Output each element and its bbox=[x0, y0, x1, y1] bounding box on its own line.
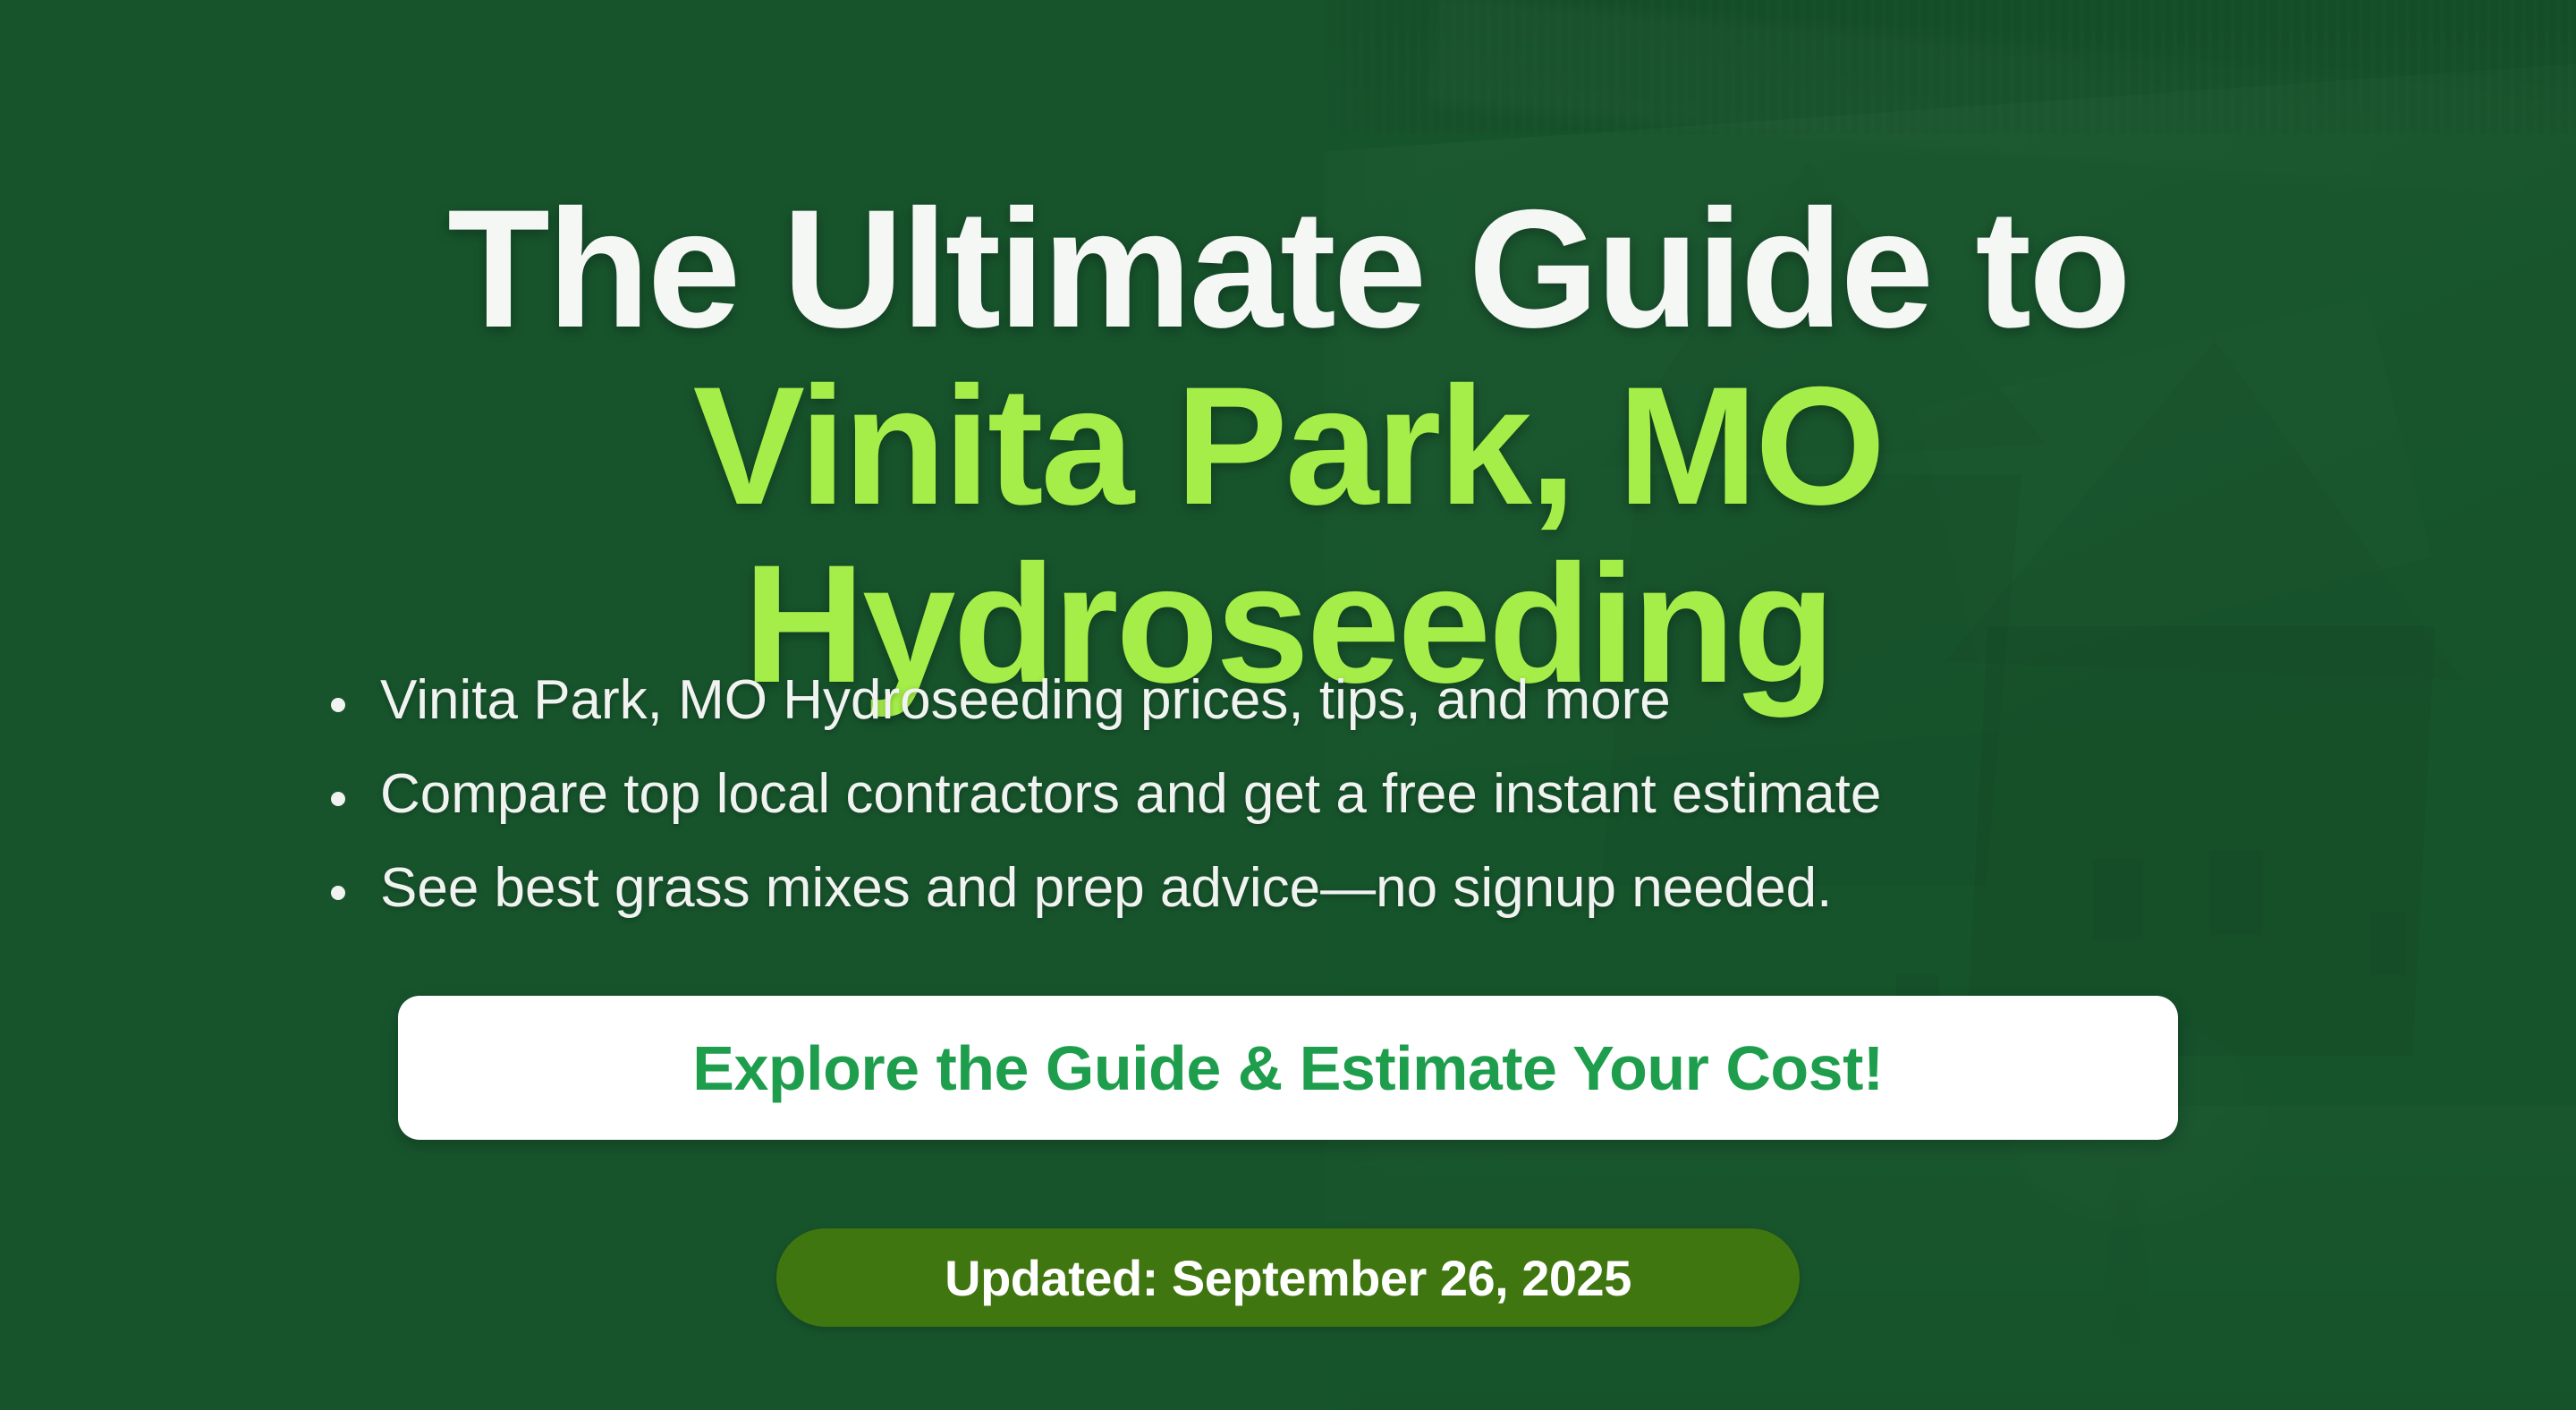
hero-banner: The Ultimate Guide to Vinita Park, MO Hy… bbox=[0, 0, 2576, 1410]
headline-line-2: Vinita Park, MO bbox=[0, 357, 2576, 534]
updated-date-badge: Updated: September 26, 2025 bbox=[776, 1228, 1800, 1327]
list-item-label: Compare top local contractors and get a … bbox=[380, 763, 1881, 825]
explore-guide-button[interactable]: Explore the Guide & Estimate Your Cost! bbox=[398, 996, 2178, 1140]
bullet-dot-icon bbox=[331, 792, 345, 806]
list-item: See best grass mixes and prep advice—no … bbox=[331, 861, 1881, 916]
banner-content: The Ultimate Guide to Vinita Park, MO Hy… bbox=[0, 0, 2576, 1410]
list-item: Vinita Park, MO Hydroseeding prices, tip… bbox=[331, 673, 1881, 728]
benefit-list: Vinita Park, MO Hydroseeding prices, tip… bbox=[331, 673, 1881, 955]
headline-line-1: The Ultimate Guide to bbox=[447, 174, 2129, 362]
page-title: The Ultimate Guide to Vinita Park, MO Hy… bbox=[0, 180, 2576, 712]
list-item: Compare top local contractors and get a … bbox=[331, 767, 1881, 822]
bullet-dot-icon bbox=[331, 698, 345, 712]
list-item-label: See best grass mixes and prep advice—no … bbox=[380, 857, 1832, 919]
bullet-dot-icon bbox=[331, 886, 345, 900]
list-item-label: Vinita Park, MO Hydroseeding prices, tip… bbox=[380, 669, 1671, 731]
